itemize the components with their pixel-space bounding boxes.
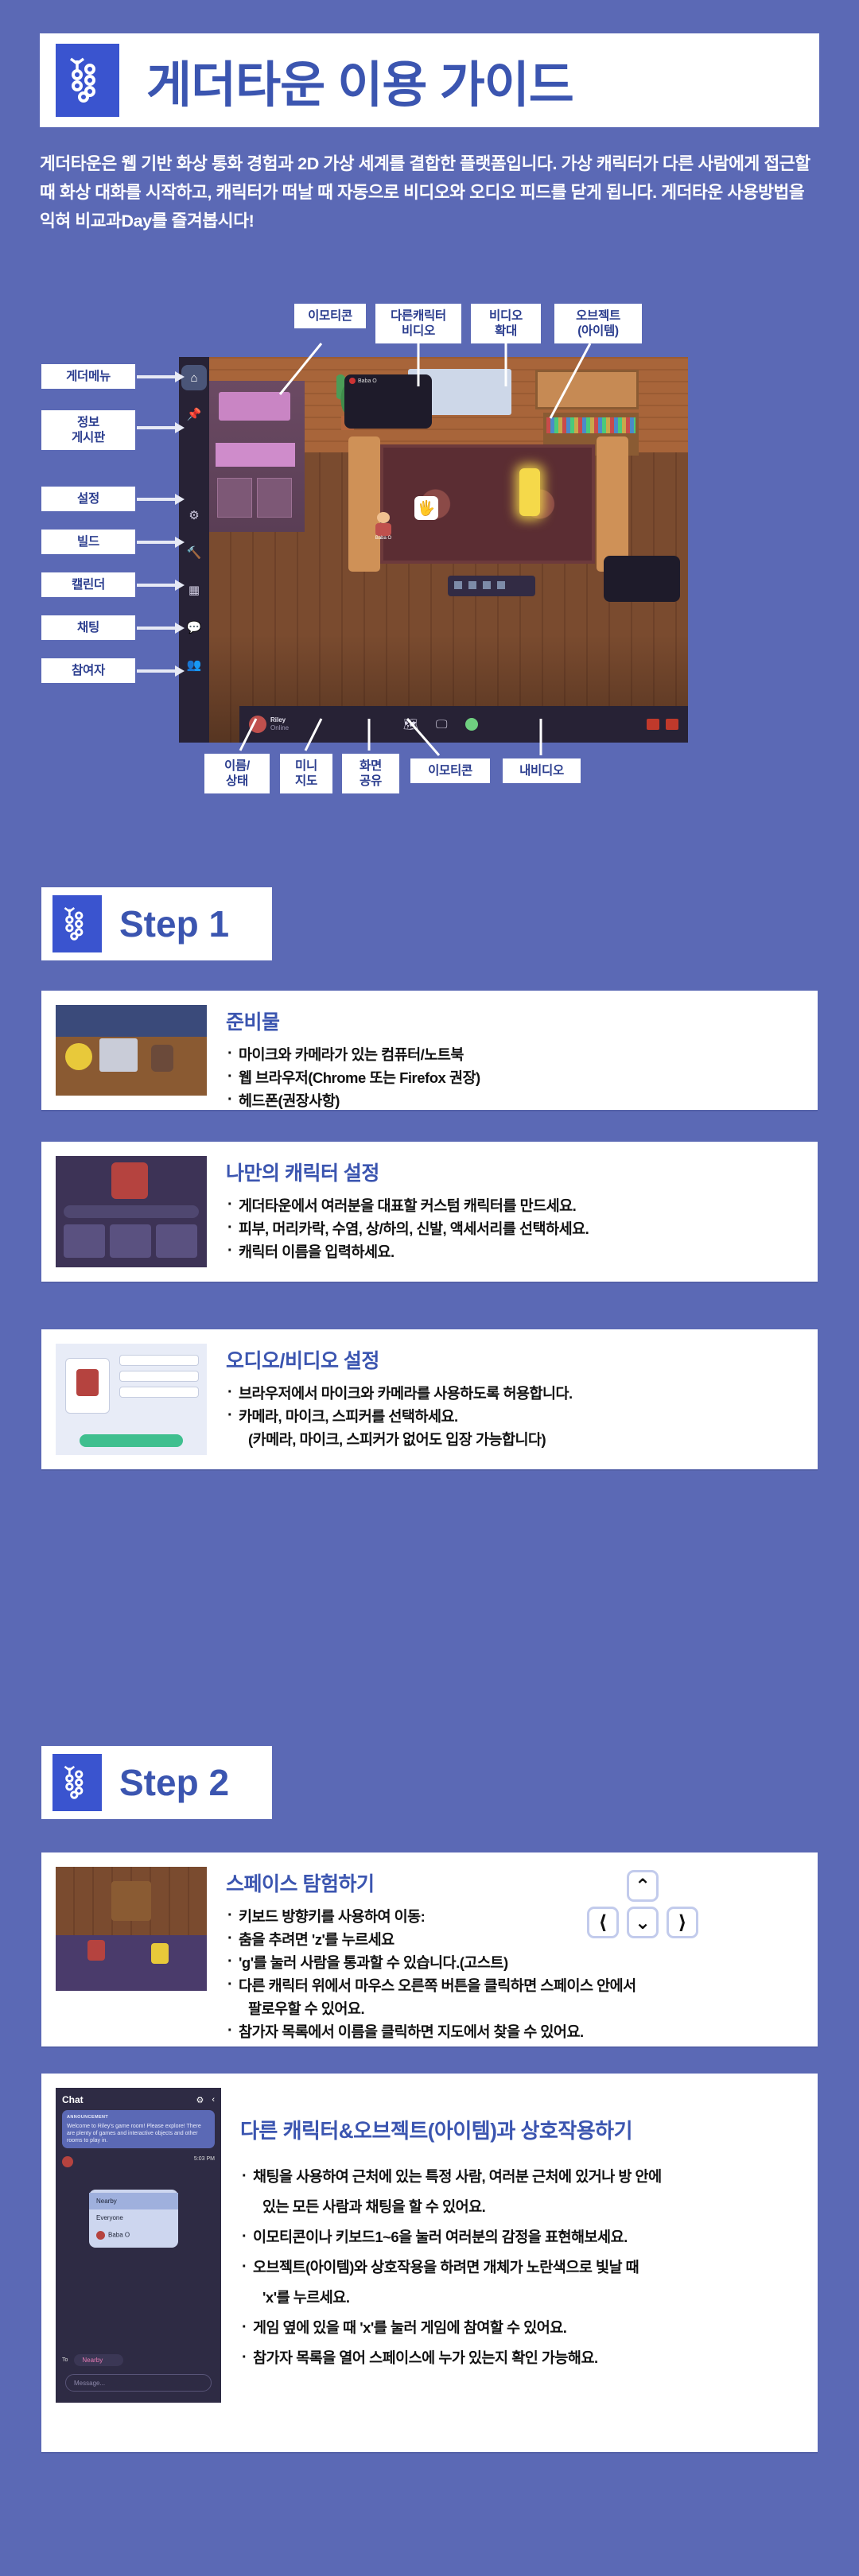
- character-creator-scene: [56, 1156, 207, 1267]
- list-item: 브라우저에서 마이크와 카메라를 사용하도록 허용합니다.: [226, 1382, 800, 1405]
- card-space-explore: 스페이스 탐험하기 ⌃ ⟨ ⌄ ⟩ 키보드 방향키를 사용하여 이동: 춤을 추…: [41, 1852, 818, 2046]
- step-2-banner: Step 2: [41, 1746, 272, 1819]
- to-label: To: [62, 2357, 68, 2363]
- card-title: 오디오/비디오 설정: [226, 1345, 800, 1374]
- message-input[interactable]: Message...: [65, 2374, 212, 2392]
- gear-icon[interactable]: ⚙: [196, 2095, 204, 2105]
- intro-paragraph: 게더타운은 웹 기반 화상 통화 경험과 2D 가상 세계를 결합한 플랫폼입니…: [40, 149, 823, 235]
- list-item: 카메라, 마이크, 스피커를 선택하세요.: [226, 1405, 800, 1428]
- bullet-list: 키보드 방향키를 사용하여 이동: 춤을 추려면 'z'를 누르세요 'g'를 …: [226, 1905, 800, 2043]
- callout-arrows-bottom: [41, 299, 818, 800]
- list-item: 피부, 머리카락, 수염, 상/하의, 신발, 액세서리를 선택하세요.: [226, 1217, 800, 1240]
- list-item: 게임 옆에 있을 때 'x'를 눌러 게임에 참여할 수 있어요.: [240, 2313, 800, 2343]
- announcement-body: Welcome to Riley's game room! Please exp…: [67, 2124, 201, 2143]
- list-item: 캐릭터 이름을 입력하세요.: [226, 1240, 800, 1263]
- list-item: 오브젝트(아이템)와 상호작용을 하려면 개체가 노란색으로 빛날 때: [240, 2252, 800, 2283]
- recipient-select[interactable]: Nearby: [74, 2354, 123, 2366]
- card-title: 다른 캐릭터&오브젝트(아이템)과 상호작용하기: [240, 2115, 800, 2144]
- header-banner: 게더타운 이용 가이드: [40, 33, 819, 127]
- card-title: 스페이스 탐험하기: [226, 1868, 800, 1897]
- list-item: 게더타운에서 여러분을 대표할 커스텀 캐릭터를 만드세요.: [226, 1194, 800, 1217]
- card-title: 나만의 캐릭터 설정: [226, 1158, 800, 1186]
- arrow-up-key: ⌃: [627, 1870, 659, 1902]
- step-2-label: Step 2: [119, 1761, 229, 1804]
- dropdown-option-nearby[interactable]: Nearby: [89, 2193, 178, 2209]
- card-character-setup: 나만의 캐릭터 설정 게더타운에서 여러분을 대표할 커스텀 캐릭터를 만드세요…: [41, 1142, 818, 1282]
- av-settings-scene: [56, 1344, 207, 1455]
- list-item: 참가자 목록을 열어 스페이스에 누가 있는지 확인 가능해요.: [240, 2343, 800, 2373]
- annotated-screenshot-diagram: ⌂ 📌 ⚙ 🔨 ▦ 💬 👥: [41, 299, 818, 800]
- chat-title: Chat: [62, 2094, 84, 2105]
- card-interaction: Chat ⚙ ‹ ANNOUNCEMENT Welcome to Riley's…: [41, 2074, 818, 2452]
- recipient-dropdown-menu[interactable]: Nearby Everyone Baba O: [89, 2190, 178, 2248]
- chevron-left-icon[interactable]: ‹: [212, 2095, 215, 2105]
- list-item: 헤드폰(권장사항): [226, 1089, 800, 1112]
- list-item: 'x'를 누르세요.: [240, 2283, 800, 2313]
- announcement-message: ANNOUNCEMENT Welcome to Riley's game roo…: [62, 2110, 215, 2148]
- space-explore-scene: [56, 1867, 207, 1991]
- card-preparation: 준비물 마이크와 카메라가 있는 컴퓨터/노트북 웹 브라우저(Chrome 또…: [41, 991, 818, 1110]
- bullet-list: 게더타운에서 여러분을 대표할 커스텀 캐릭터를 만드세요. 피부, 머리카락,…: [226, 1194, 800, 1263]
- chat-panel-scene: Chat ⚙ ‹ ANNOUNCEMENT Welcome to Riley's…: [56, 2088, 221, 2403]
- list-item: 팔로우할 수 있어요.: [226, 1997, 800, 2020]
- step-1-label: Step 1: [119, 902, 229, 945]
- chat-panel[interactable]: Chat ⚙ ‹ ANNOUNCEMENT Welcome to Riley's…: [56, 2088, 221, 2403]
- bullet-list: 마이크와 카메라가 있는 컴퓨터/노트북 웹 브라우저(Chrome 또는 Fi…: [226, 1043, 800, 1112]
- page-title: 게더타운 이용 가이드: [146, 45, 573, 116]
- list-item: 이모티콘이나 키보드1~6을 눌러 여러분의 감정을 표현해보세요.: [240, 2222, 800, 2252]
- avatar: [62, 2156, 73, 2167]
- card-av-setup: 오디오/비디오 설정 브라우저에서 마이크와 카메라를 사용하도록 허용합니다.…: [41, 1329, 818, 1469]
- gather-logo-icon: [52, 895, 102, 952]
- bullet-list: 브라우저에서 마이크와 카메라를 사용하도록 허용합니다. 카메라, 마이크, …: [226, 1382, 800, 1451]
- card-title: 준비물: [226, 1007, 800, 1035]
- dropdown-option-everyone[interactable]: Everyone: [89, 2209, 178, 2226]
- list-item: 마이크와 카메라가 있는 컴퓨터/노트북: [226, 1043, 800, 1066]
- gather-logo-icon: [52, 1754, 102, 1811]
- guide-page: 게더타운 이용 가이드 게더타운은 웹 기반 화상 통화 경험과 2D 가상 세…: [0, 0, 859, 2576]
- announcement-label: ANNOUNCEMENT: [67, 2114, 210, 2121]
- list-item: 'g'를 눌러 사람을 통과할 수 있습니다.(고스트): [226, 1951, 800, 1974]
- desk-computer-scene: [56, 1005, 207, 1096]
- dropdown-option-user: Baba O: [89, 2226, 178, 2244]
- bullet-list: 채팅을 사용하여 근처에 있는 특정 사람, 여러분 근처에 있거나 방 안에 …: [240, 2162, 800, 2373]
- list-item: 있는 모든 사람과 채팅을 할 수 있어요.: [240, 2192, 800, 2222]
- list-item: 채팅을 사용하여 근처에 있는 특정 사람, 여러분 근처에 있거나 방 안에: [240, 2162, 800, 2192]
- message-timestamp: 5:03 PM: [194, 2156, 215, 2167]
- list-item: 웹 브라우저(Chrome 또는 Firefox 권장): [226, 1066, 800, 1089]
- gather-logo-icon: [56, 44, 119, 117]
- list-item: 춤을 추려면 'z'를 누르세요: [226, 1928, 800, 1951]
- list-item: 다른 캐릭터 위에서 마우스 오른쪽 버튼을 클릭하면 스페이스 안에서: [226, 1974, 800, 1997]
- list-item: (카메라, 마이크, 스피커가 없어도 입장 가능합니다): [226, 1428, 800, 1451]
- list-item: 참가자 목록에서 이름을 클릭하면 지도에서 찾을 수 있어요.: [226, 2020, 800, 2043]
- step-1-banner: Step 1: [41, 887, 272, 960]
- list-item: 키보드 방향키를 사용하여 이동:: [226, 1905, 800, 1928]
